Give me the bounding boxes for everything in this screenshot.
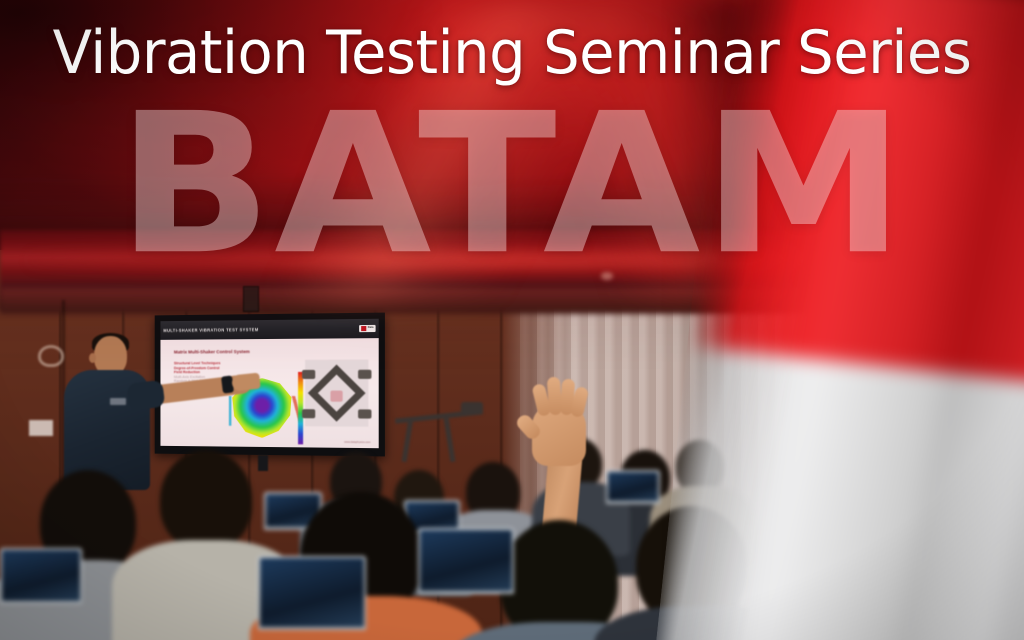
banner-headline: Vibration Testing Seminar Series bbox=[20, 22, 1003, 85]
promo-banner: MULTI-SHAKER VIBRATION TEST SYSTEM Data … bbox=[0, 0, 1024, 640]
city-wordmark: BATAM bbox=[0, 88, 1024, 282]
